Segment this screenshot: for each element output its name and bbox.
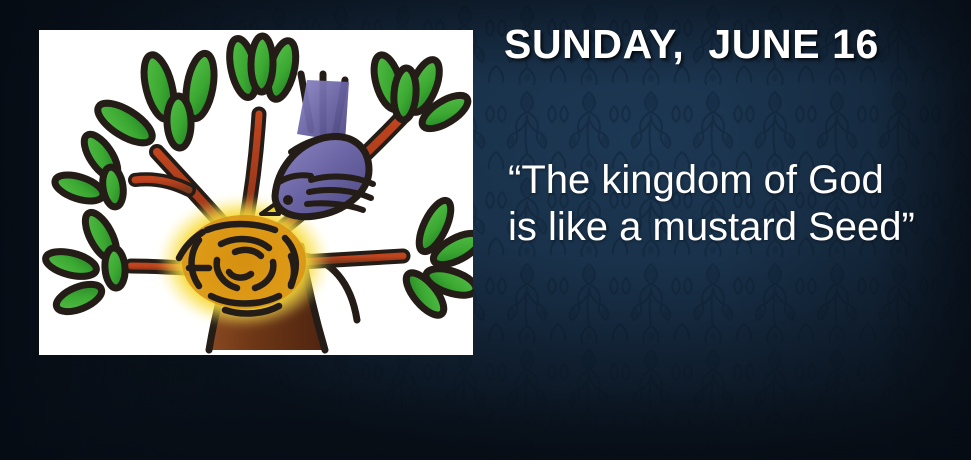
- slide-canvas: SUNDAY, JUNE 16 “The kingdom of God is l…: [0, 0, 971, 460]
- quote-line-2: is like a mustard Seed”: [508, 204, 960, 251]
- leaf-cluster-right: [400, 196, 473, 321]
- leaf-cluster-upper-right: [369, 52, 473, 135]
- leaf-cluster-lower-left: [43, 208, 126, 317]
- leaf-cluster-upper-left: [92, 51, 219, 150]
- leaf-cluster-upper-middle: [225, 36, 301, 102]
- mustard-tree-illustration: [39, 30, 473, 355]
- leaf-cluster-mid-left: [52, 129, 126, 208]
- bird-eye-icon: [283, 195, 293, 205]
- page-title: SUNDAY, JUNE 16: [504, 21, 879, 68]
- mustard-tree-image: [39, 30, 473, 355]
- scripture-quote: “The kingdom of God is like a mustard Se…: [508, 157, 960, 251]
- quote-line-1: “The kingdom of God: [508, 157, 960, 204]
